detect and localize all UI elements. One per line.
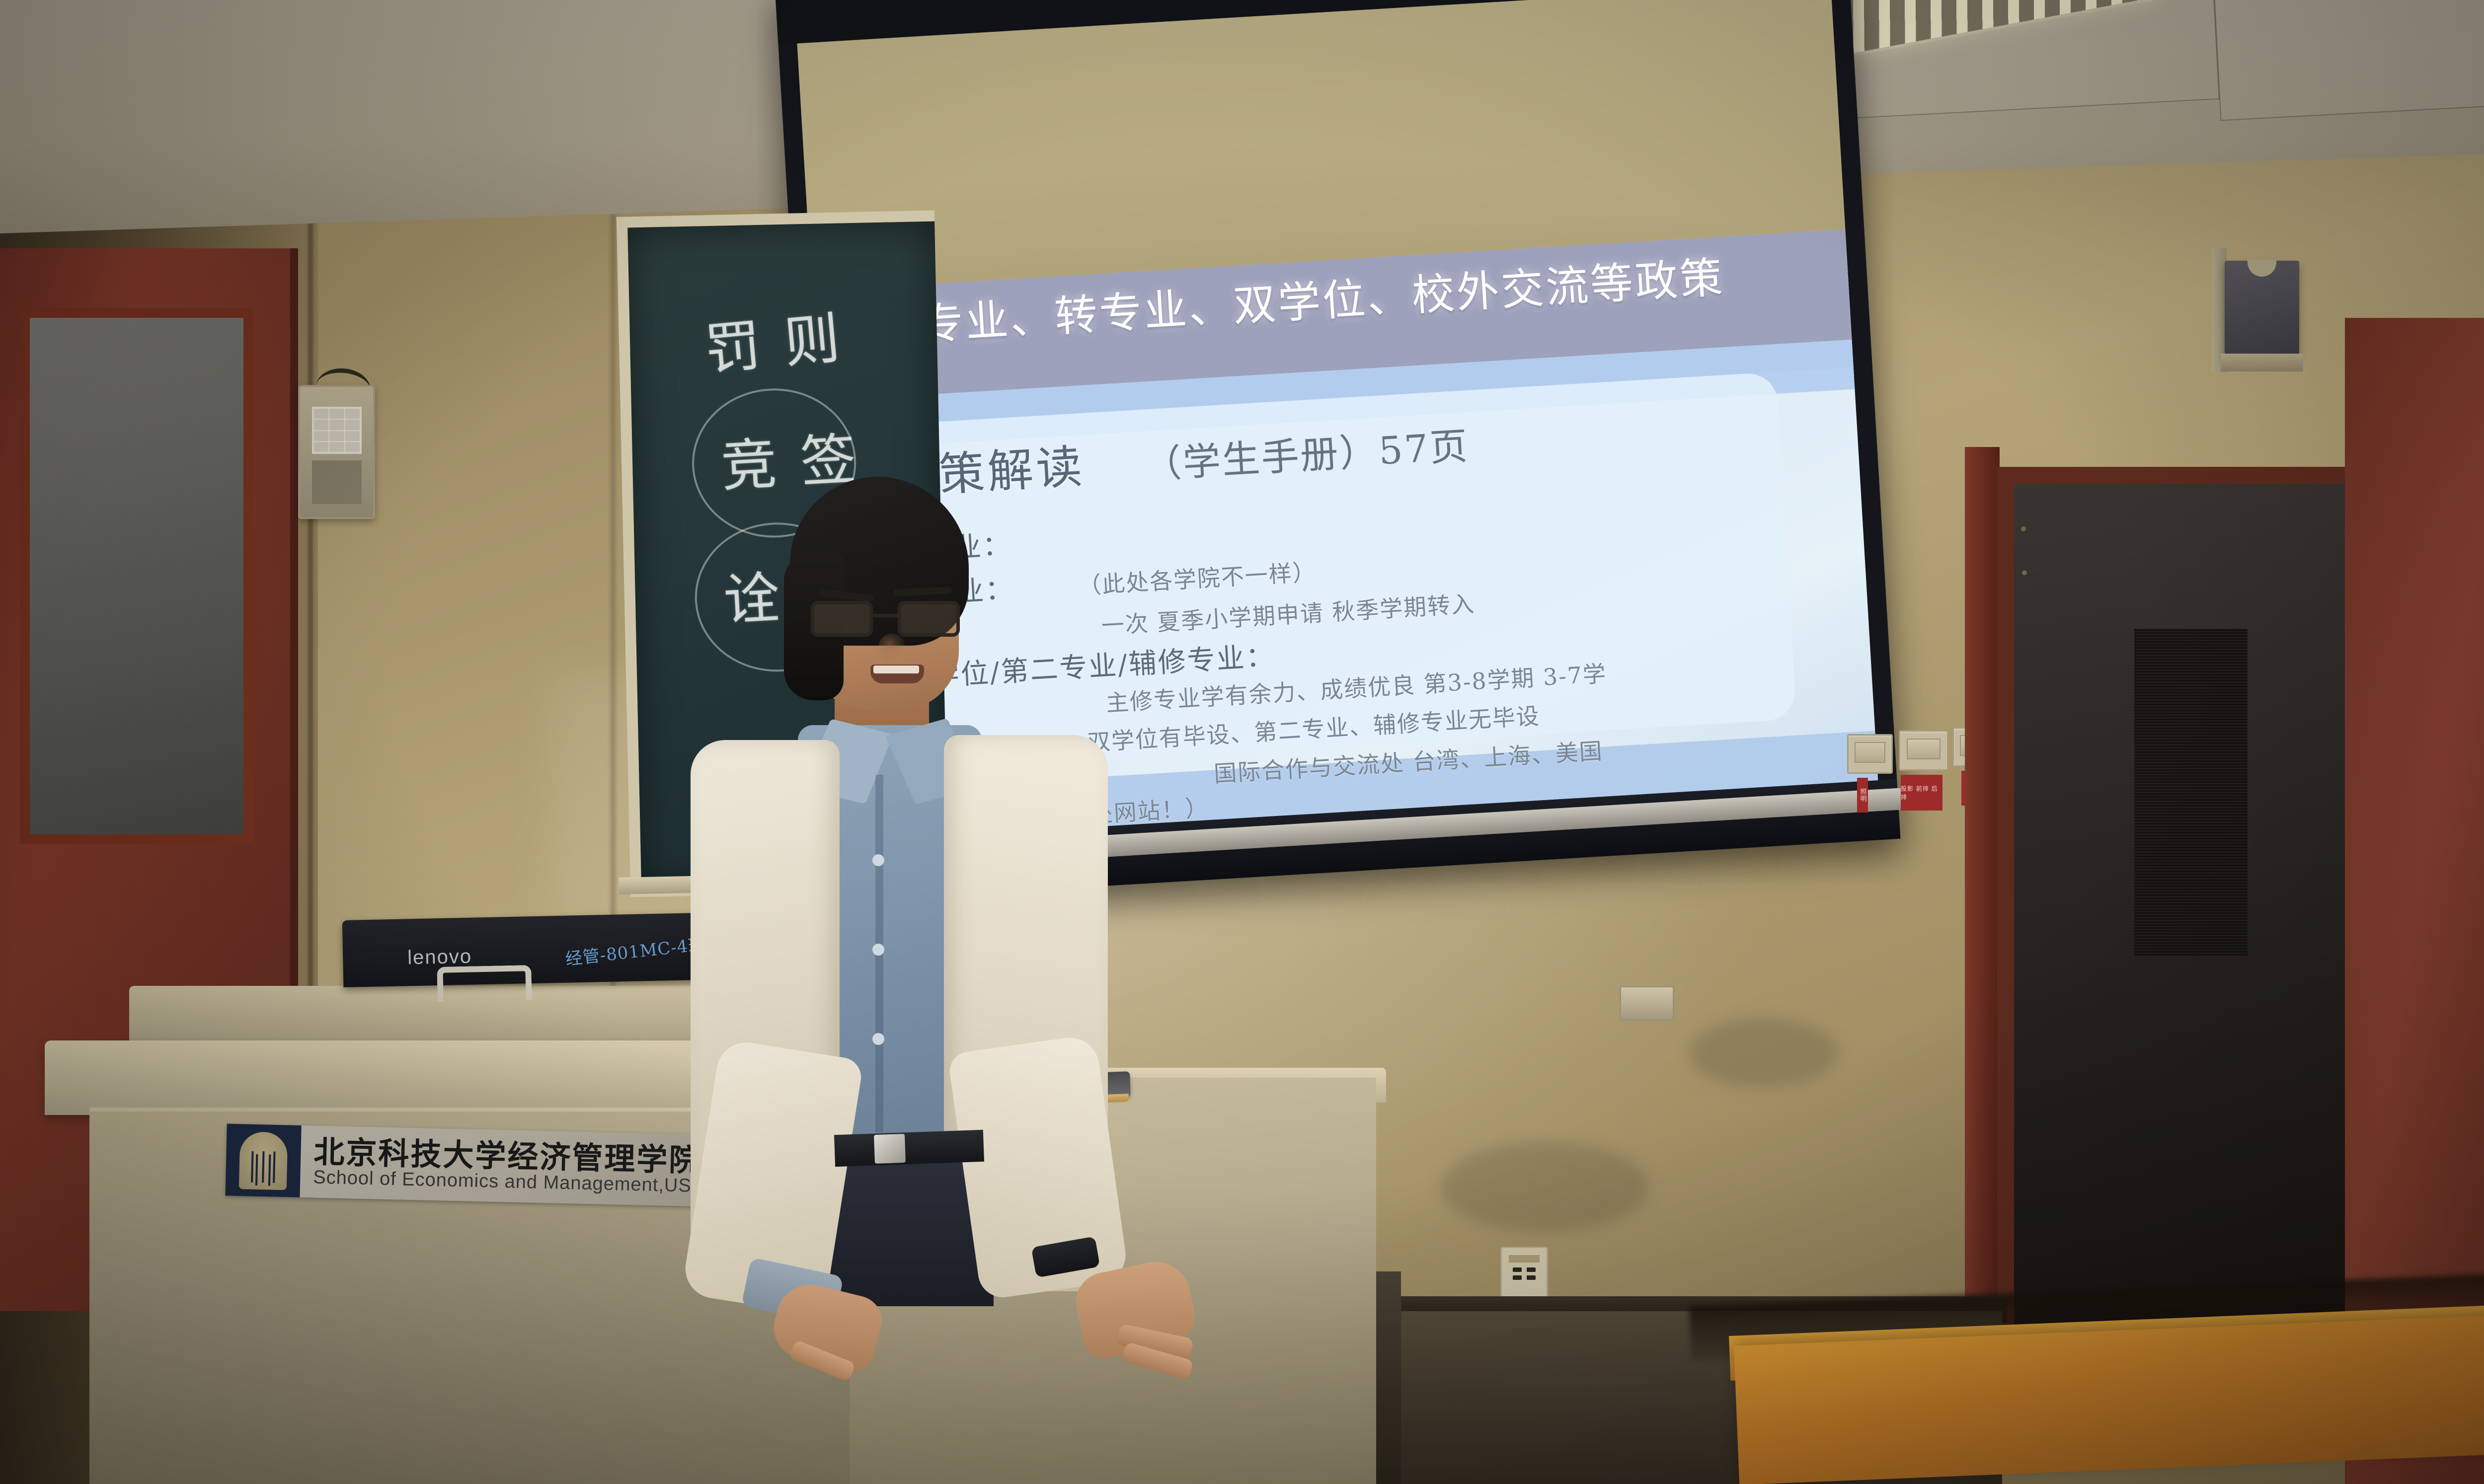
keypad-key[interactable]	[329, 442, 344, 452]
keypad-key[interactable]	[345, 420, 360, 430]
belt-buckle	[874, 1134, 906, 1164]
mouth	[870, 665, 924, 683]
power-outlet-icon	[1500, 1247, 1548, 1300]
shirt-button	[872, 854, 884, 866]
door-icon[interactable]	[1997, 467, 2365, 1391]
speaker-base-plate	[2221, 354, 2303, 371]
wall-scuff-mark	[1689, 1018, 1838, 1088]
keypad-key[interactable]	[329, 431, 344, 441]
control-panel-label-plate	[312, 460, 362, 504]
keypad-key[interactable]	[345, 442, 360, 452]
laptop-icon[interactable]: lenovo 经管-801MC-4班	[342, 912, 726, 987]
keypad-key[interactable]	[345, 409, 360, 419]
keypad-key[interactable]	[314, 431, 328, 441]
keypad-key[interactable]	[345, 431, 360, 441]
switch-label-1: 投影 前排 后排	[1901, 775, 1942, 811]
wall-junction-box	[1620, 986, 1674, 1021]
logo-emblem	[225, 1124, 301, 1197]
keypad-key[interactable]	[314, 442, 328, 452]
keypad[interactable]	[312, 407, 362, 454]
podium-carry-handle[interactable]	[437, 965, 532, 1002]
wall-scuff-mark	[1441, 1142, 1649, 1232]
laptop-brand-label: lenovo	[407, 946, 472, 969]
classroom-photo-scene: 分专业、转专业、双学位、校外交流等政策 政策解读 （学生手册）57页 分专业： …	[0, 0, 2484, 1484]
speaker-icon	[2225, 261, 2299, 355]
chalk-line-0: 罚 则	[701, 293, 846, 385]
light-switch-icon[interactable]	[1899, 730, 1948, 771]
laptop-handwritten-label: 经管-801MC-4班	[564, 931, 706, 970]
keypad-key[interactable]	[314, 409, 328, 419]
ceiling-tile	[2212, 0, 2484, 121]
belt	[834, 1130, 984, 1167]
door-vent-panel	[2134, 629, 2248, 955]
door-frame-trim	[1965, 447, 2000, 1391]
eyeglasses-icon	[811, 601, 960, 640]
keypad-key[interactable]	[329, 409, 344, 419]
shirt-button	[872, 944, 884, 956]
switch-label-0: 照明	[1857, 778, 1868, 813]
wall-control-panel[interactable]	[298, 385, 375, 519]
doorway-interior	[2014, 484, 2348, 1391]
door-glass-panel	[20, 308, 253, 844]
shirt-button	[872, 1033, 884, 1045]
keypad-key[interactable]	[329, 420, 344, 430]
light-switch-icon[interactable]	[1847, 734, 1893, 774]
keypad-key[interactable]	[314, 420, 328, 430]
